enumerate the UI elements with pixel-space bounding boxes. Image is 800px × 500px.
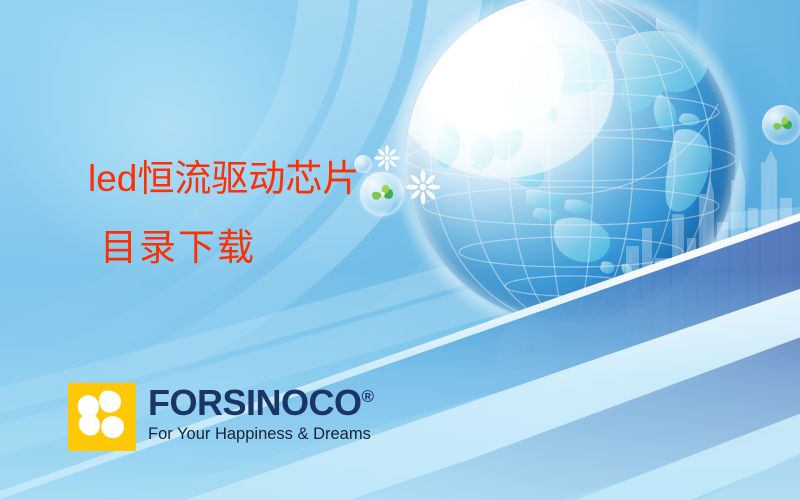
- brand-name: FORSINOCO®: [148, 385, 374, 421]
- logo-pinwheel-icon: [68, 383, 136, 451]
- brand-tagline: For Your Happiness & Dreams: [148, 425, 374, 443]
- registered-trademark-symbol: ®: [362, 387, 375, 406]
- headline-line-1: led恒流驱动芯片: [88, 160, 359, 197]
- brand-logo: FORSINOCO® For Your Happiness & Dreams: [68, 383, 374, 451]
- headline-line-2: 目录下载: [100, 229, 359, 266]
- banner-image: led恒流驱动芯片 目录下载 FORSINOCO® For Your Happi…: [0, 0, 800, 500]
- brand-text: FORSINOCO® For Your Happiness & Dreams: [148, 383, 374, 443]
- brand-name-word: FORSINOCO: [148, 382, 362, 423]
- headline-text: led恒流驱动芯片 目录下载: [88, 160, 359, 266]
